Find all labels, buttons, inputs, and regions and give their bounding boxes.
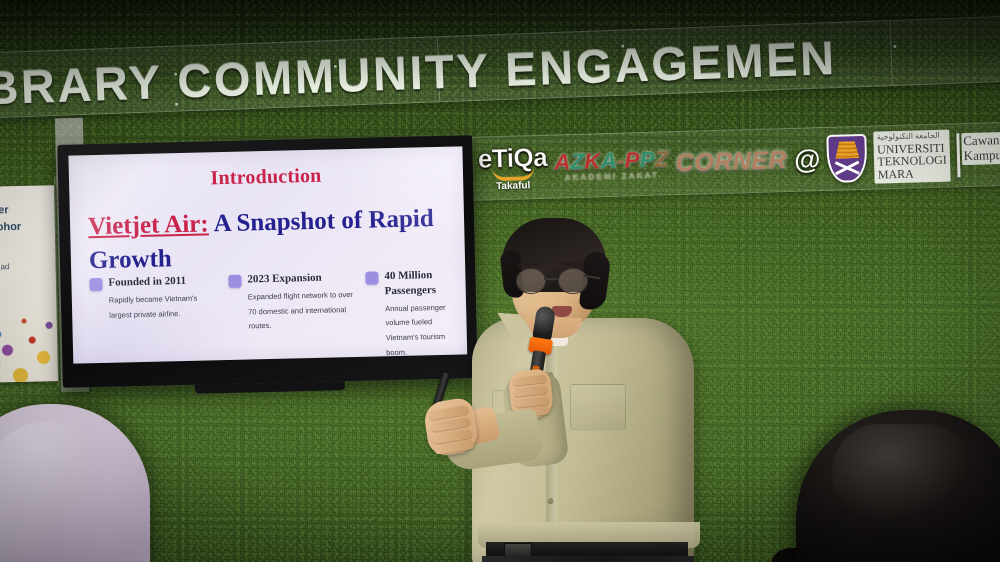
bullet-chip-icon — [365, 271, 378, 284]
poster-subtext-line-2: Berhad — [0, 259, 10, 275]
presenter-trousers — [482, 556, 694, 562]
slide-title: Vietjet Air: A Snapshot of Rapid Growth — [88, 202, 448, 278]
slide-column-heading: Founded in 2011 — [108, 274, 186, 291]
poster-title-line-1: orner — [0, 202, 21, 219]
etiqa-swoosh-icon — [492, 167, 534, 181]
glasses-lens-left — [516, 268, 546, 294]
slide-column-heading: 2023 Expansion — [247, 271, 322, 288]
azka-sub-label: AKADEMI ZAKAT — [564, 171, 659, 182]
poster-title: orner n Johor — [0, 202, 21, 236]
at-symbol-label: @ — [794, 144, 821, 176]
branch-flag-sign: Cawanga Kampus — [956, 132, 1000, 178]
presenter-glasses — [514, 268, 596, 292]
slide-column-heading-row: Founded in 2011 — [89, 273, 216, 291]
slide-column-body: Rapidly became Vietnam's largest private… — [109, 291, 218, 323]
slide-kicker: Introduction — [87, 162, 445, 193]
azka-wordmark: AZKA-PPZ — [554, 148, 669, 173]
wall-poster-primary: orner n Johor h Berhad na tiln of had — [0, 185, 58, 383]
azka-ppz-logo: AZKA-PPZ AKADEMI ZAKAT — [554, 148, 669, 182]
branch-line-2: Kampus — [963, 148, 1000, 164]
poster-subtext-line-3: na — [0, 275, 10, 291]
bullet-chip-icon — [228, 275, 241, 288]
slide-content: Introduction Vietjet Air: A Snapshot of … — [68, 146, 467, 363]
poster-title-line-2: n Johor — [0, 218, 21, 235]
slide-columns: Founded in 2011 Rapidly became Vietnam's… — [89, 268, 449, 364]
slide-column: Founded in 2011 Rapidly became Vietnam's… — [89, 273, 218, 363]
glasses-bridge — [544, 278, 558, 280]
uitm-shield-icon — [827, 134, 868, 183]
etiqa-logo: eTiQa Takaful — [477, 143, 548, 192]
slide-column-heading-row: 2023 Expansion — [228, 270, 353, 288]
slide-column-body: Expanded flight network to over 70 domes… — [248, 288, 355, 334]
slide-column: 2023 Expansion Expanded flight network t… — [228, 270, 355, 364]
hair-sheen-highlight — [832, 424, 972, 520]
glasses-lens-right — [558, 268, 588, 294]
display-screen: Introduction Vietjet Air: A Snapshot of … — [68, 146, 467, 363]
branch-nameplate: Cawanga Kampus — [961, 132, 1000, 165]
photo-scene: BRARY COMMUNITY ENGAGEMEN eTiQa Takaful … — [0, 0, 1000, 562]
presenter-figure — [430, 222, 730, 562]
poster-subtext-line-1: h — [0, 244, 9, 260]
presentation-display: Introduction Vietjet Air: A Snapshot of … — [57, 135, 478, 388]
hijab-fold-highlight — [0, 422, 102, 562]
bullet-chip-icon — [89, 278, 102, 291]
flag-pole-icon — [956, 133, 960, 177]
slide-title-brand: Vietjet Air: — [88, 210, 209, 240]
etiqa-takaful-label: Takaful — [496, 181, 531, 192]
poster-subtext: h Berhad na — [0, 244, 10, 290]
uitm-line-3: MARA — [878, 167, 948, 182]
corner-wordmark: CORNER — [675, 146, 787, 178]
presenter-hand-left — [422, 396, 480, 457]
poster-floral-graphic — [0, 301, 58, 383]
uitm-nameplate: الجامعة التكنولوجية UNIVERSITI TEKNOLOGI… — [874, 130, 951, 183]
shirt-pocket — [570, 384, 626, 430]
